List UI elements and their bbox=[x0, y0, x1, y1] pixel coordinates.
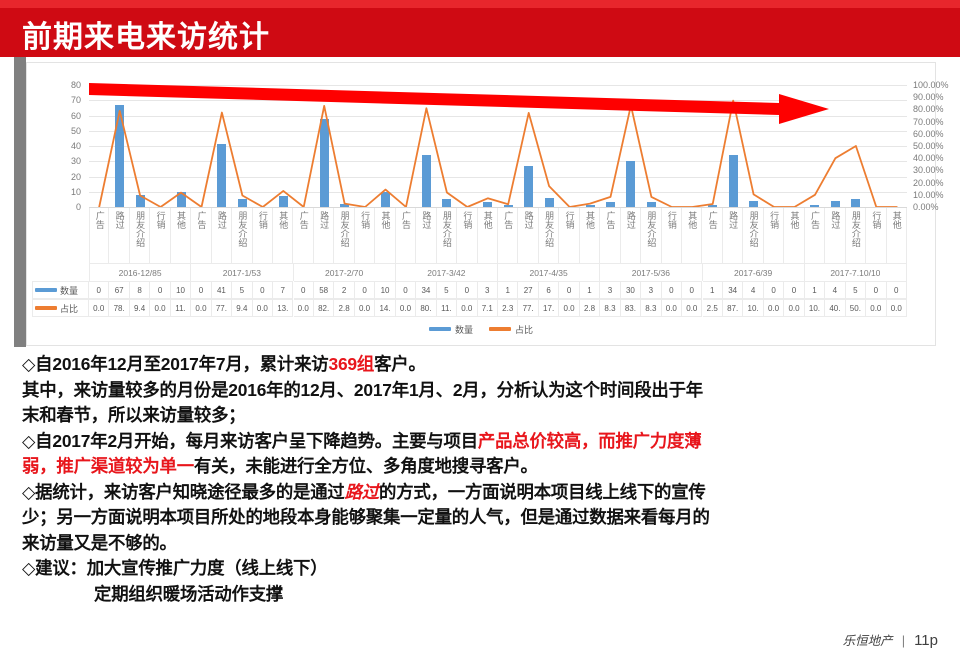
legend-item[interactable]: 占比 bbox=[489, 323, 533, 336]
legend-item[interactable]: 数量 bbox=[429, 323, 473, 336]
table-cell: 27 bbox=[518, 281, 538, 299]
x-axis-category-label: 广告 bbox=[604, 211, 615, 229]
slide-title-bar: 前期来电来访统计 bbox=[0, 0, 960, 57]
x-axis-category-label: 其他 bbox=[380, 211, 391, 229]
y-axis-left-tick: 0 bbox=[37, 202, 81, 212]
x-axis-category-label: 广告 bbox=[502, 211, 513, 229]
x-axis-category-label: 路过 bbox=[523, 211, 534, 229]
table-cell: 10 bbox=[171, 281, 191, 299]
y-axis-right-tick: 90.00% bbox=[913, 92, 960, 102]
table-cell: 8 bbox=[130, 281, 150, 299]
y-axis-left-tick: 70 bbox=[37, 95, 81, 105]
p1-part-a: ◇自2016年12月至2017年7月，累计来访 bbox=[22, 354, 328, 374]
y-axis-right-tick: 50.00% bbox=[913, 141, 960, 151]
table-cell: 13. bbox=[273, 299, 293, 317]
x-axis-category-cell: 路过 bbox=[723, 208, 743, 264]
x-axis-category-cell: 其他 bbox=[580, 208, 600, 264]
y-axis-left-tick: 20 bbox=[37, 172, 81, 182]
table-cell: 10. bbox=[743, 299, 763, 317]
p6-part-b: 的方式，一方面说明本项目线上线下的宣传 bbox=[379, 482, 706, 502]
y-axis-right-tick: 60.00% bbox=[913, 129, 960, 139]
legend-swatch-icon bbox=[429, 327, 451, 331]
table-cell: 82. bbox=[314, 299, 334, 317]
table-cell: 2.8 bbox=[580, 299, 600, 317]
x-axis-category-cell: 广告 bbox=[805, 208, 825, 264]
table-cell: 41 bbox=[212, 281, 232, 299]
decorative-left-strip bbox=[14, 57, 26, 347]
table-cell: 1 bbox=[580, 281, 600, 299]
x-axis-category-cell: 朋友介绍 bbox=[437, 208, 457, 264]
legend-label: 数量 bbox=[455, 323, 473, 336]
x-axis-category-cell: 其他 bbox=[273, 208, 293, 264]
table-row-label-zhanbi: 占比 bbox=[32, 299, 89, 317]
table-cell: 0.0 bbox=[457, 299, 477, 317]
table-cell: 0.0 bbox=[150, 299, 170, 317]
table-cell: 11. bbox=[171, 299, 191, 317]
x-axis-categories: 广告路过朋友介绍行销其他广告路过朋友介绍行销其他广告路过朋友介绍行销其他广告路过… bbox=[89, 207, 907, 264]
table-cell: 34 bbox=[416, 281, 436, 299]
x-axis-category-label: 行销 bbox=[870, 211, 881, 229]
table-cell: 0.0 bbox=[887, 299, 907, 317]
table-cell: 7.1 bbox=[478, 299, 498, 317]
analysis-text-block: ◇自2016年12月至2017年7月，累计来访369组客户。 其中，来访量较多的… bbox=[22, 352, 942, 607]
x-axis-group-label: 2017-3/42 bbox=[396, 263, 498, 281]
table-cell: 0 bbox=[457, 281, 477, 299]
table-cell: 0.0 bbox=[191, 299, 211, 317]
x-axis-category-label: 行销 bbox=[666, 211, 677, 229]
x-axis-category-cell: 路过 bbox=[825, 208, 845, 264]
x-axis-category-cell: 广告 bbox=[191, 208, 211, 264]
table-cell: 5 bbox=[846, 281, 866, 299]
table-cell: 0 bbox=[662, 281, 682, 299]
table-row-label-text: 占比 bbox=[60, 302, 78, 315]
table-cell: 0 bbox=[191, 281, 211, 299]
analysis-paragraph-6: ◇据统计，来访客户知晓途径最多的是通过路过的方式，一方面说明本项目线上线下的宣传 bbox=[22, 480, 942, 506]
y-axis-left-tick: 40 bbox=[37, 141, 81, 151]
analysis-paragraph-1: ◇自2016年12月至2017年7月，累计来访369组客户。 bbox=[22, 352, 942, 378]
x-axis-category-cell: 朋友介绍 bbox=[130, 208, 150, 264]
y-axis-right-tick: 10.00% bbox=[913, 190, 960, 200]
analysis-paragraph-5: 弱，推广渠道较为单一有关，未能进行全方位、多角度地搜寻客户。 bbox=[22, 454, 942, 480]
table-row: 数量 0678010041507058201003450312760133030… bbox=[32, 281, 907, 299]
x-axis-category-label: 行销 bbox=[461, 211, 472, 229]
x-axis-category-cell: 其他 bbox=[375, 208, 395, 264]
table-row-label-shuliang: 数量 bbox=[32, 281, 89, 299]
table-cell: 34 bbox=[723, 281, 743, 299]
analysis-paragraph-3: 末和春节，所以来访量较多； bbox=[22, 403, 942, 429]
table-cell: 0 bbox=[682, 281, 702, 299]
x-axis-category-cell: 路过 bbox=[212, 208, 232, 264]
x-axis-group-label: 2017-6/39 bbox=[703, 263, 805, 281]
table-cell: 4 bbox=[825, 281, 845, 299]
table-cell: 0.0 bbox=[253, 299, 273, 317]
table-cell: 9.4 bbox=[130, 299, 150, 317]
analysis-paragraph-9: ◇建议：加大宣传推广力度（线上线下） bbox=[22, 556, 942, 582]
x-axis-category-label: 其他 bbox=[789, 211, 800, 229]
legend-swatch-icon bbox=[489, 327, 511, 331]
slide-footer: 乐恒地产 | 11p bbox=[843, 630, 938, 649]
x-axis-category-label: 广告 bbox=[707, 211, 718, 229]
x-axis-group-label: 2017-4/35 bbox=[498, 263, 600, 281]
x-axis-category-cell: 朋友介绍 bbox=[232, 208, 252, 264]
table-row-label-text: 数量 bbox=[60, 284, 78, 297]
table-cell: 4 bbox=[743, 281, 763, 299]
table-cell: 2 bbox=[334, 281, 354, 299]
table-cell: 6 bbox=[539, 281, 559, 299]
x-axis-category-cell: 其他 bbox=[171, 208, 191, 264]
x-axis-category-label: 其他 bbox=[584, 211, 595, 229]
table-cell: 77. bbox=[518, 299, 538, 317]
x-axis-category-cell: 其他 bbox=[682, 208, 702, 264]
table-cell: 11. bbox=[437, 299, 457, 317]
x-axis-category-label: 其他 bbox=[891, 211, 902, 229]
x-axis-category-label: 路过 bbox=[420, 211, 431, 229]
table-cell: 9.4 bbox=[232, 299, 252, 317]
x-axis-category-label: 行销 bbox=[564, 211, 575, 229]
line-series-zhanbi bbox=[89, 85, 907, 207]
x-axis-category-cell: 广告 bbox=[600, 208, 620, 264]
table-cell: 0.0 bbox=[396, 299, 416, 317]
chart-plot-area bbox=[89, 85, 907, 207]
x-axis-category-label: 行销 bbox=[359, 211, 370, 229]
y-axis-left-tick: 50 bbox=[37, 126, 81, 136]
table-cell: 3 bbox=[641, 281, 661, 299]
x-axis-category-cell: 路过 bbox=[621, 208, 641, 264]
table-cell: 0 bbox=[887, 281, 907, 299]
table-cell: 17. bbox=[539, 299, 559, 317]
table-cell: 67 bbox=[109, 281, 129, 299]
x-axis-category-label: 其他 bbox=[175, 211, 186, 229]
x-axis-category-cell: 路过 bbox=[314, 208, 334, 264]
x-axis-category-label: 广告 bbox=[809, 211, 820, 229]
x-axis-category-label: 朋友介绍 bbox=[236, 211, 247, 247]
footer-separator: | bbox=[902, 633, 905, 648]
table-cell: 5 bbox=[437, 281, 457, 299]
x-axis-category-cell: 行销 bbox=[150, 208, 170, 264]
x-axis-category-label: 其他 bbox=[277, 211, 288, 229]
table-cell: 0.0 bbox=[682, 299, 702, 317]
x-axis-category-label: 朋友介绍 bbox=[645, 211, 656, 247]
table-cell: 0 bbox=[866, 281, 886, 299]
x-axis-category-cell: 路过 bbox=[518, 208, 538, 264]
x-axis-category-label: 路过 bbox=[625, 211, 636, 229]
x-axis-category-cell: 行销 bbox=[457, 208, 477, 264]
analysis-paragraph-10: 定期组织暖场活动作支撑 bbox=[22, 582, 942, 608]
table-cell: 8.3 bbox=[641, 299, 661, 317]
table-cell: 78. bbox=[109, 299, 129, 317]
analysis-paragraph-7: 少；另一方面说明本项目所处的地段本身能够聚集一定量的人气，但是通过数据来看每月的 bbox=[22, 505, 942, 531]
table-cell: 0 bbox=[150, 281, 170, 299]
table-cell: 5 bbox=[232, 281, 252, 299]
table-cell: 1 bbox=[703, 281, 723, 299]
x-axis-category-cell: 朋友介绍 bbox=[743, 208, 763, 264]
table-row: 占比 0.078.9.40.011.0.077.9.40.013.0.082.2… bbox=[32, 299, 907, 317]
x-axis-group-label: 2017-2/70 bbox=[294, 263, 396, 281]
x-axis-category-cell: 广告 bbox=[294, 208, 314, 264]
table-cell: 0.0 bbox=[662, 299, 682, 317]
x-axis-category-cell: 行销 bbox=[253, 208, 273, 264]
table-cell: 3 bbox=[600, 281, 620, 299]
table-cell: 58 bbox=[314, 281, 334, 299]
y-axis-right-tick: 30.00% bbox=[913, 165, 960, 175]
table-cell: 14. bbox=[375, 299, 395, 317]
x-axis-group-label: 2017-7.10/10 bbox=[805, 263, 907, 281]
x-axis-category-cell: 朋友介绍 bbox=[641, 208, 661, 264]
x-axis-category-label: 朋友介绍 bbox=[850, 211, 861, 247]
x-axis-category-label: 路过 bbox=[829, 211, 840, 229]
y-axis-left-tick: 10 bbox=[37, 187, 81, 197]
y-axis-right-tick: 20.00% bbox=[913, 178, 960, 188]
table-cell: 40. bbox=[825, 299, 845, 317]
table-cell: 8.3 bbox=[600, 299, 620, 317]
table-cell: 77. bbox=[212, 299, 232, 317]
table-cell: 0 bbox=[559, 281, 579, 299]
y-axis-left-tick: 60 bbox=[37, 111, 81, 121]
x-axis-category-cell: 行销 bbox=[662, 208, 682, 264]
p4-highlight: 产品总价较高，而推广力度薄 bbox=[478, 431, 701, 451]
x-axis-category-label: 朋友介绍 bbox=[748, 211, 759, 247]
table-cell: 50. bbox=[846, 299, 866, 317]
series-swatch-icon bbox=[35, 306, 57, 310]
x-axis-category-cell: 朋友介绍 bbox=[846, 208, 866, 264]
chart-legend: 数量占比 bbox=[27, 321, 935, 337]
table-cell: 3 bbox=[478, 281, 498, 299]
analysis-paragraph-8: 来访量又是不够的。 bbox=[22, 531, 942, 557]
table-cell: 0.0 bbox=[559, 299, 579, 317]
x-axis-category-label: 其他 bbox=[482, 211, 493, 229]
table-cell: 7 bbox=[273, 281, 293, 299]
p5-highlight: 弱，推广渠道较为单一 bbox=[22, 456, 194, 476]
p6-part-a: ◇据统计，来访客户知晓途径最多的是通过 bbox=[22, 482, 345, 502]
x-axis-category-cell: 广告 bbox=[89, 208, 109, 264]
x-axis-category-label: 朋友介绍 bbox=[441, 211, 452, 247]
x-axis-category-label: 路过 bbox=[114, 211, 125, 229]
x-axis-category-label: 其他 bbox=[686, 211, 697, 229]
x-axis-category-cell: 广告 bbox=[703, 208, 723, 264]
x-axis-group-label: 2017-5/36 bbox=[600, 263, 702, 281]
legend-label: 占比 bbox=[515, 323, 533, 336]
x-axis-category-label: 朋友介绍 bbox=[134, 211, 145, 247]
table-cell: 10 bbox=[375, 281, 395, 299]
p4-part-a: ◇自2017年2月开始，每月来访客户呈下降趋势。主要与项目 bbox=[22, 431, 478, 451]
table-cell: 0 bbox=[89, 281, 109, 299]
series-swatch-icon bbox=[35, 288, 57, 292]
table-cell: 2.8 bbox=[334, 299, 354, 317]
page-title: 前期来电来访统计 bbox=[22, 12, 270, 56]
table-cell: 80. bbox=[416, 299, 436, 317]
table-cell: 0 bbox=[355, 281, 375, 299]
x-axis-category-label: 路过 bbox=[727, 211, 738, 229]
x-axis-category-cell: 行销 bbox=[355, 208, 375, 264]
x-axis-category-cell: 其他 bbox=[784, 208, 804, 264]
x-axis-category-label: 广告 bbox=[195, 211, 206, 229]
table-cell: 10. bbox=[805, 299, 825, 317]
x-axis-category-cell: 其他 bbox=[478, 208, 498, 264]
footer-page-number: 11p bbox=[914, 632, 938, 649]
x-axis-category-cell: 朋友介绍 bbox=[334, 208, 354, 264]
x-axis-group-label: 2017-1/53 bbox=[191, 263, 293, 281]
table-cell: 83. bbox=[621, 299, 641, 317]
table-cell: 0.0 bbox=[784, 299, 804, 317]
table-cell: 0 bbox=[764, 281, 784, 299]
y-axis-right-tick: 0.00% bbox=[913, 202, 960, 212]
y-axis-right-tick: 40.00% bbox=[913, 153, 960, 163]
x-axis-category-label: 广告 bbox=[298, 211, 309, 229]
x-axis-category-label: 路过 bbox=[318, 211, 329, 229]
table-cell: 0.0 bbox=[294, 299, 314, 317]
table-cell: 1 bbox=[805, 281, 825, 299]
x-axis-category-label: 广告 bbox=[400, 211, 411, 229]
x-axis-category-cell: 行销 bbox=[559, 208, 579, 264]
x-axis-category-label: 行销 bbox=[257, 211, 268, 229]
x-axis-category-cell: 路过 bbox=[416, 208, 436, 264]
x-axis-category-label: 朋友介绍 bbox=[543, 211, 554, 247]
x-axis-category-label: 广告 bbox=[94, 211, 105, 229]
y-axis-right-tick: 70.00% bbox=[913, 117, 960, 127]
x-axis-category-cell: 广告 bbox=[498, 208, 518, 264]
visits-statistics-chart: 广告路过朋友介绍行销其他广告路过朋友介绍行销其他广告路过朋友介绍行销其他广告路过… bbox=[26, 62, 936, 346]
table-cell: 0.0 bbox=[866, 299, 886, 317]
x-axis-category-label: 行销 bbox=[155, 211, 166, 229]
x-axis-category-cell: 其他 bbox=[887, 208, 907, 264]
p6-highlight: 路过 bbox=[345, 482, 379, 502]
p1-highlight: 369组 bbox=[328, 354, 374, 374]
table-cell: 0 bbox=[784, 281, 804, 299]
analysis-paragraph-4: ◇自2017年2月开始，每月来访客户呈下降趋势。主要与项目产品总价较高，而推广力… bbox=[22, 429, 942, 455]
analysis-paragraph-2: 其中，来访量较多的月份是2016年的12月、2017年1月、2月，分析认为这个时… bbox=[22, 378, 942, 404]
x-axis-category-cell: 朋友介绍 bbox=[539, 208, 559, 264]
x-axis-category-cell: 路过 bbox=[109, 208, 129, 264]
x-axis-groups: 2016-12/852017-1/532017-2/702017-3/42201… bbox=[89, 263, 907, 281]
x-axis-category-label: 朋友介绍 bbox=[339, 211, 350, 247]
x-axis-category-cell: 行销 bbox=[764, 208, 784, 264]
p5-part-b: 有关，未能进行全方位、多角度地搜寻客户。 bbox=[194, 456, 538, 476]
table-cell: 0.0 bbox=[355, 299, 375, 317]
table-cell: 2.5 bbox=[703, 299, 723, 317]
p1-part-b: 客户。 bbox=[374, 354, 426, 374]
table-cell: 0 bbox=[294, 281, 314, 299]
y-axis-left-tick: 80 bbox=[37, 80, 81, 90]
table-cell: 0.0 bbox=[89, 299, 109, 317]
x-axis-category-cell: 广告 bbox=[396, 208, 416, 264]
table-cell: 2.3 bbox=[498, 299, 518, 317]
table-cell: 0 bbox=[396, 281, 416, 299]
table-cell: 0.0 bbox=[764, 299, 784, 317]
table-cell: 30 bbox=[621, 281, 641, 299]
y-axis-right-tick: 100.00% bbox=[913, 80, 960, 90]
chart-data-table: 数量 0678010041507058201003450312760133030… bbox=[32, 281, 907, 317]
footer-brand: 乐恒地产 bbox=[843, 630, 893, 649]
x-axis-category-label: 路过 bbox=[216, 211, 227, 229]
table-cell: 87. bbox=[723, 299, 743, 317]
y-axis-right-tick: 80.00% bbox=[913, 104, 960, 114]
x-axis-group-label: 2016-12/85 bbox=[89, 263, 191, 281]
y-axis-left-tick: 30 bbox=[37, 156, 81, 166]
table-cell: 0 bbox=[253, 281, 273, 299]
table-cell: 1 bbox=[498, 281, 518, 299]
x-axis-category-cell: 行销 bbox=[866, 208, 886, 264]
x-axis-category-label: 行销 bbox=[768, 211, 779, 229]
